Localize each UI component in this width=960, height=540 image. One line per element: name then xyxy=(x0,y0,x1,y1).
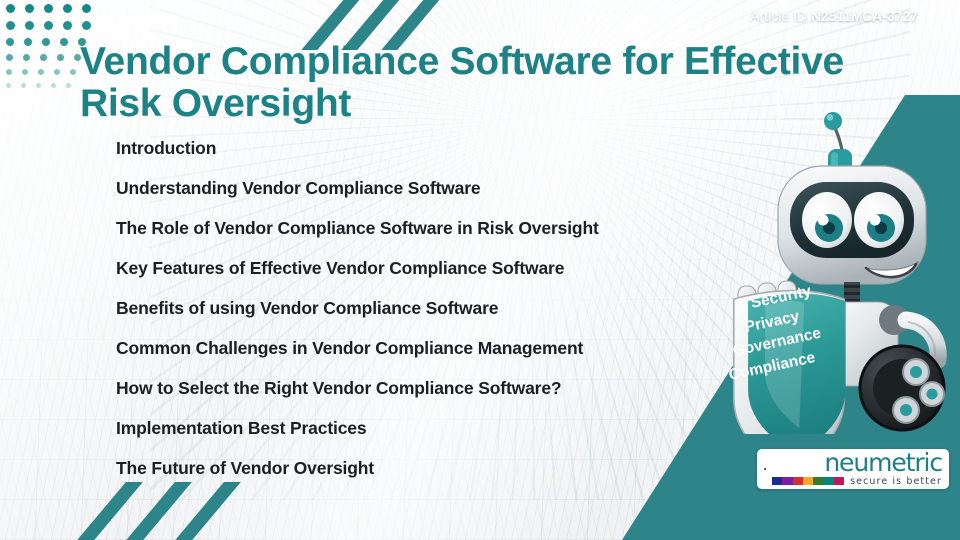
dot xyxy=(42,38,50,46)
toc-item[interactable]: Understanding Vendor Compliance Software xyxy=(116,180,736,198)
dot xyxy=(38,69,44,75)
robot-mascot-svg: Security Privacy Governance Compliance xyxy=(716,104,960,434)
dot-grid-row xyxy=(6,69,91,75)
dot-grid-row xyxy=(6,4,91,13)
dot-grid-row xyxy=(6,38,91,46)
dot-grid-row xyxy=(6,54,91,61)
dot xyxy=(25,4,34,13)
dot xyxy=(82,4,91,13)
table-of-contents: Introduction Understanding Vendor Compli… xyxy=(116,140,736,500)
toc-item[interactable]: The Future of Vendor Oversight xyxy=(116,460,736,478)
dot xyxy=(63,21,72,30)
dot xyxy=(24,38,32,46)
dot xyxy=(44,21,53,30)
dot xyxy=(25,21,34,30)
dot xyxy=(63,4,72,13)
dot xyxy=(44,4,53,13)
dot xyxy=(54,69,60,75)
dot xyxy=(21,83,26,88)
dot xyxy=(57,54,64,61)
dot xyxy=(6,54,13,61)
toc-item[interactable]: Key Features of Effective Vendor Complia… xyxy=(116,260,736,278)
logo-wordmark: neumetric xyxy=(824,450,942,475)
dot xyxy=(36,83,41,88)
logo-tagline: secure is better xyxy=(850,476,942,487)
logo-text-block: neumetric secure is better xyxy=(772,452,942,487)
dot xyxy=(60,38,68,46)
dot xyxy=(82,21,91,30)
dot-grid-decoration xyxy=(6,4,91,96)
rainbow-bar xyxy=(772,477,844,485)
toc-item[interactable]: Introduction xyxy=(116,140,736,158)
dot xyxy=(66,83,71,88)
dot-grid-row xyxy=(6,83,91,88)
slide-canvas: Article ID N2511MCA-3727 Vendor Complian… xyxy=(0,0,960,540)
dot xyxy=(6,4,15,13)
dot xyxy=(6,38,14,46)
logo-subline: secure is better xyxy=(772,476,942,487)
shield-icon xyxy=(764,454,766,484)
article-id-label: Article ID xyxy=(750,9,807,24)
toc-item[interactable]: How to Select the Right Vendor Complianc… xyxy=(116,380,736,398)
toc-item[interactable]: Benefits of using Vendor Compliance Soft… xyxy=(116,300,736,318)
dot xyxy=(51,83,56,88)
toc-item[interactable]: Common Challenges in Vendor Compliance M… xyxy=(116,340,736,358)
dot xyxy=(6,21,15,30)
robot-mascot: Security Privacy Governance Compliance xyxy=(716,104,960,434)
article-id: Article ID N2511MCA-3727 xyxy=(750,9,918,24)
dot xyxy=(22,69,28,75)
dot xyxy=(70,69,76,75)
dot xyxy=(23,54,30,61)
dot-grid-row xyxy=(6,21,91,30)
article-id-value: N2511MCA-3727 xyxy=(811,9,918,24)
dot xyxy=(40,54,47,61)
neumetric-logo[interactable]: neumetric secure is better xyxy=(757,449,949,489)
toc-item[interactable]: The Role of Vendor Compliance Software i… xyxy=(116,220,736,238)
dot xyxy=(6,69,12,75)
diagonal-stripes-top xyxy=(325,0,465,40)
dot xyxy=(6,83,11,88)
toc-item[interactable]: Implementation Best Practices xyxy=(116,420,736,438)
